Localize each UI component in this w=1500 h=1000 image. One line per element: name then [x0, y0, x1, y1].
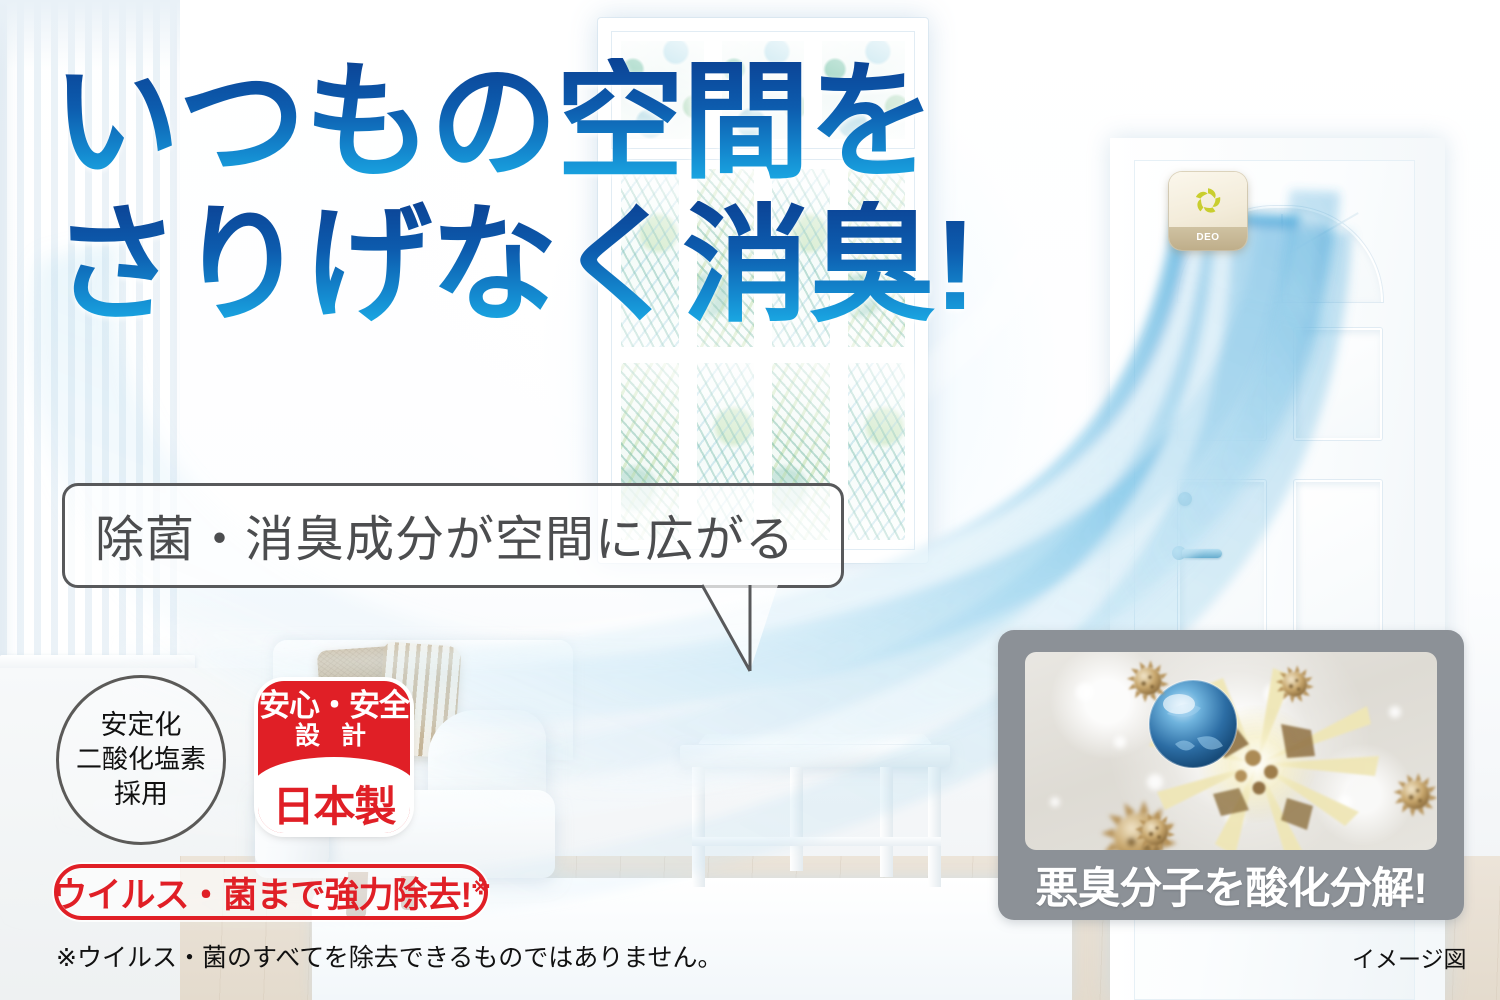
badge-pill-mark: ※	[471, 877, 489, 899]
door-handle-icon	[1172, 545, 1220, 561]
badge-japan-made-in: 日本製	[258, 773, 410, 833]
deo-device: DEO	[1169, 172, 1247, 250]
status-badge-virus-removal: ウイルス・菌まで強力除去!※	[54, 864, 488, 920]
badge-circle-line-1: 安定化	[101, 708, 182, 743]
speech-bubble: 除菌・消臭成分が空間に広がる	[62, 483, 844, 588]
badge-circle-line-2: 二酸化塩素	[76, 743, 206, 777]
door-lock-icon	[1178, 492, 1192, 506]
microscopic-illustration	[1025, 652, 1437, 850]
status-badge-made-in-japan: 安心・安全 設 計 日本製	[258, 681, 410, 833]
speech-bubble-text: 除菌・消臭成分が空間に広がる	[95, 500, 795, 571]
badge-japan-line-2: 設 計	[258, 722, 410, 751]
page-title: いつもの空間を さりげなく消臭!	[52, 58, 1012, 331]
device-brand-label: DEO	[1169, 232, 1247, 243]
swirl-pinwheel-icon	[1191, 184, 1225, 218]
speech-bubble-tail	[700, 583, 820, 675]
badge-circle-line-3: 採用	[114, 777, 168, 812]
status-badge-stabilized-chlorine-dioxide: 安定化 二酸化塩素 採用	[56, 675, 226, 845]
badge-pill-text: ウイルス・菌まで強力除去!	[52, 876, 471, 915]
badge-japan-line-1: 安心・安全	[258, 689, 410, 722]
micro-panel-caption: 悪臭分子を酸化分解!	[998, 854, 1464, 916]
coffee-table-icon	[680, 745, 950, 890]
micro-panel: 悪臭分子を酸化分解!	[998, 630, 1464, 920]
headline-line-2: さりげなく消臭!	[52, 201, 1012, 332]
headline-line-1: いつもの空間を	[52, 58, 1012, 189]
image-note-label: イメージ図	[1352, 940, 1467, 974]
footnote-disclaimer: ※ウイルス・菌のすべてを除去できるものではありません。	[56, 938, 722, 974]
